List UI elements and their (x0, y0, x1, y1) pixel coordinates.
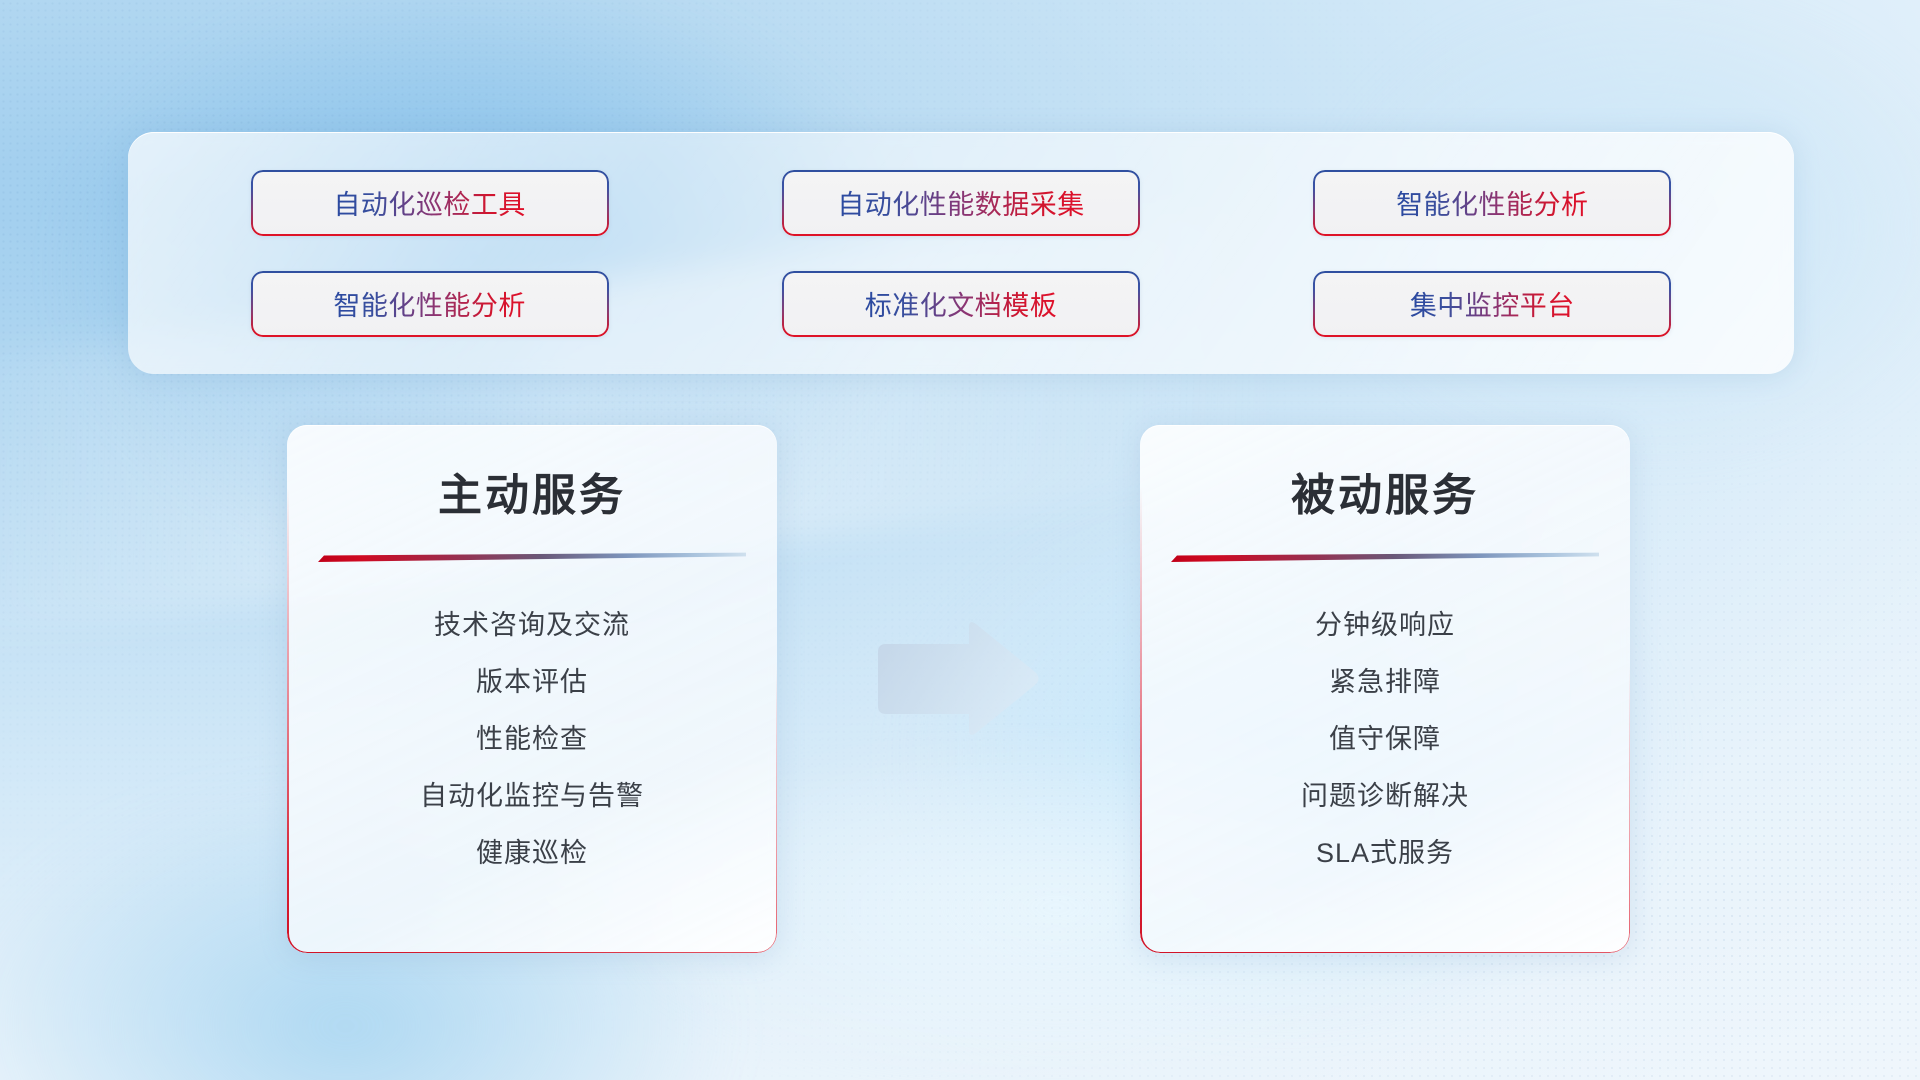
list-item: 分钟级响应 (1140, 597, 1630, 654)
list-item: 技术咨询及交流 (287, 597, 777, 654)
card-title: 被动服务 (1140, 459, 1630, 523)
list-item: 值守保障 (1140, 711, 1630, 768)
right-arrow-icon (872, 619, 1042, 741)
list-item: 紧急排障 (1140, 654, 1630, 711)
capability-chip-label: 智能化性能分析 (333, 284, 526, 323)
list-item: 健康巡检 (287, 825, 777, 882)
card-title-divider (318, 550, 746, 561)
capability-chip-label: 智能化性能分析 (1396, 183, 1589, 222)
capability-chip-1[interactable]: 自动化巡检工具 (251, 170, 609, 236)
capability-chip-panel: 自动化巡检工具 自动化性能数据采集 智能化性能分析 智能化性能分析 标准化文档模… (128, 132, 1794, 374)
list-item: 性能检查 (287, 711, 777, 768)
capability-chip-3[interactable]: 智能化性能分析 (1313, 170, 1671, 236)
capability-chip-label: 自动化性能数据采集 (837, 183, 1085, 222)
capability-chip-label: 标准化文档模板 (865, 284, 1058, 323)
service-card-active: 主动服务 技术咨询及交流 版本评估 性能检查 自动化监控与告警 健康巡检 (287, 425, 777, 953)
list-item: 版本评估 (287, 654, 777, 711)
capability-chip-grid: 自动化巡检工具 自动化性能数据采集 智能化性能分析 智能化性能分析 标准化文档模… (128, 132, 1794, 374)
capability-chip-4[interactable]: 智能化性能分析 (251, 271, 609, 337)
capability-chip-label: 集中监控平台 (1410, 284, 1575, 323)
service-item-list: 技术咨询及交流 版本评估 性能检查 自动化监控与告警 健康巡检 (287, 597, 777, 882)
list-item: 问题诊断解决 (1140, 768, 1630, 825)
card-title-divider (1171, 550, 1599, 561)
capability-chip-6[interactable]: 集中监控平台 (1313, 271, 1671, 337)
capability-chip-label: 自动化巡检工具 (333, 183, 526, 222)
capability-chip-5[interactable]: 标准化文档模板 (782, 271, 1140, 337)
list-item: SLA式服务 (1140, 825, 1630, 882)
capability-chip-2[interactable]: 自动化性能数据采集 (782, 170, 1140, 236)
card-title: 主动服务 (287, 459, 777, 523)
service-card-passive: 被动服务 分钟级响应 紧急排障 值守保障 问题诊断解决 SLA式服务 (1140, 425, 1630, 953)
service-item-list: 分钟级响应 紧急排障 值守保障 问题诊断解决 SLA式服务 (1140, 597, 1630, 882)
list-item: 自动化监控与告警 (287, 768, 777, 825)
